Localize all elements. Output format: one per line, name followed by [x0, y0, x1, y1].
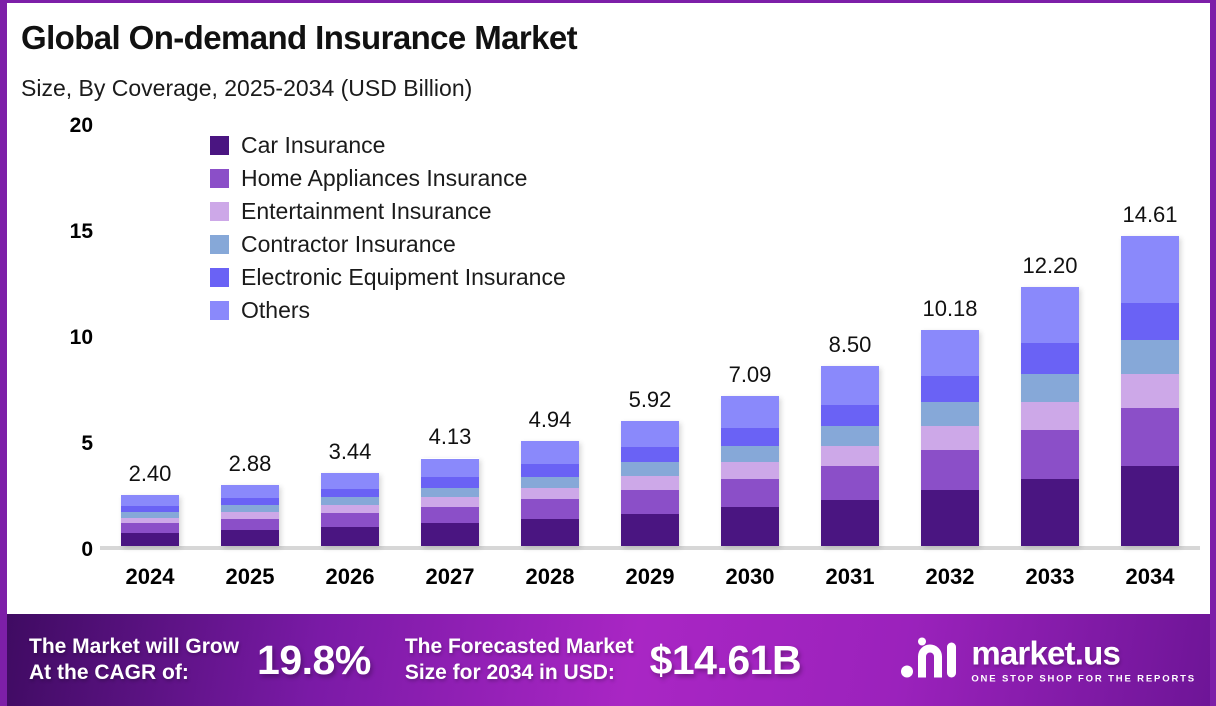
bar-value-label-2027: 4.13	[400, 424, 500, 450]
bar-segment-2031-s4[interactable]	[821, 405, 879, 426]
bar-slot-2024: 2.402024	[100, 122, 200, 546]
brand-logo[interactable]: market.us ONE STOP SHOP FOR THE REPORTS	[900, 635, 1196, 686]
stacked-bar-2030[interactable]	[721, 396, 779, 546]
legend-label-5: Others	[241, 297, 310, 324]
bar-segment-2030-s1[interactable]	[721, 479, 779, 507]
bar-segment-2028-s4[interactable]	[521, 464, 579, 477]
stacked-bar-2026[interactable]	[321, 473, 379, 546]
bar-segment-2027-s5[interactable]	[421, 459, 479, 478]
logo-name: market.us	[971, 634, 1120, 671]
bar-segment-2034-s2[interactable]	[1121, 374, 1179, 408]
bar-segment-2033-s4[interactable]	[1021, 343, 1079, 374]
cagr-label: The Market will Grow At the CAGR of:	[29, 634, 239, 685]
bar-segment-2029-s4[interactable]	[621, 447, 679, 462]
bar-segment-2032-s2[interactable]	[921, 426, 979, 450]
bar-segment-2025-s0[interactable]	[221, 530, 279, 546]
bar-segment-2034-s4[interactable]	[1121, 303, 1179, 340]
bar-segment-2025-s1[interactable]	[221, 519, 279, 530]
bar-segment-2030-s2[interactable]	[721, 462, 779, 479]
legend-swatch-icon-4	[210, 268, 229, 287]
bar-segment-2033-s0[interactable]	[1021, 479, 1079, 546]
bar-segment-2033-s3[interactable]	[1021, 374, 1079, 402]
legend-label-1: Home Appliances Insurance	[241, 165, 527, 192]
x-axis-label-2028: 2028	[500, 564, 600, 590]
chart-legend: Car InsuranceHome Appliances InsuranceEn…	[210, 129, 566, 327]
bar-segment-2025-s5[interactable]	[221, 485, 279, 498]
bar-segment-2032-s3[interactable]	[921, 402, 979, 426]
bar-segment-2026-s4[interactable]	[321, 489, 379, 498]
x-axis-label-2025: 2025	[200, 564, 300, 590]
stacked-bar-2024[interactable]	[121, 495, 179, 546]
bar-slot-2034: 14.612034	[1100, 122, 1200, 546]
bar-slot-2031: 8.502031	[800, 122, 900, 546]
bar-segment-2027-s3[interactable]	[421, 488, 479, 498]
x-axis-baseline	[100, 546, 1200, 550]
bar-segment-2026-s1[interactable]	[321, 513, 379, 527]
bar-segment-2029-s5[interactable]	[621, 421, 679, 448]
bar-segment-2031-s0[interactable]	[821, 500, 879, 546]
bar-segment-2029-s2[interactable]	[621, 476, 679, 490]
bar-segment-2030-s3[interactable]	[721, 446, 779, 463]
bar-value-label-2032: 10.18	[900, 296, 1000, 322]
bar-segment-2029-s3[interactable]	[621, 462, 679, 476]
cagr-label-line2: At the CAGR of:	[29, 660, 239, 686]
x-axis-label-2033: 2033	[1000, 564, 1100, 590]
bar-segment-2028-s1[interactable]	[521, 499, 579, 519]
stacked-bar-2032[interactable]	[921, 330, 979, 546]
legend-label-2: Entertainment Insurance	[241, 198, 492, 225]
legend-label-4: Electronic Equipment Insurance	[241, 264, 566, 291]
bar-segment-2025-s2[interactable]	[221, 512, 279, 519]
bar-segment-2030-s5[interactable]	[721, 396, 779, 428]
legend-item-0[interactable]: Car Insurance	[210, 129, 566, 162]
bar-segment-2032-s1[interactable]	[921, 450, 979, 491]
bar-segment-2026-s3[interactable]	[321, 497, 379, 505]
bar-segment-2034-s5[interactable]	[1121, 236, 1179, 303]
bar-value-label-2024: 2.40	[100, 461, 200, 487]
legend-item-4[interactable]: Electronic Equipment Insurance	[210, 261, 566, 294]
cagr-value: 19.8%	[257, 637, 371, 684]
bar-value-label-2026: 3.44	[300, 439, 400, 465]
bar-segment-2025-s3[interactable]	[221, 505, 279, 512]
bar-value-label-2025: 2.88	[200, 451, 300, 477]
bar-segment-2031-s5[interactable]	[821, 366, 879, 405]
logo-text-block: market.us ONE STOP SHOP FOR THE REPORTS	[971, 636, 1196, 684]
stacked-bar-2034[interactable]	[1121, 236, 1179, 546]
bar-segment-2034-s1[interactable]	[1121, 408, 1179, 466]
bar-segment-2027-s4[interactable]	[421, 477, 479, 487]
bar-segment-2025-s4[interactable]	[221, 498, 279, 505]
bar-segment-2033-s5[interactable]	[1021, 287, 1079, 343]
stacked-bar-2027[interactable]	[421, 458, 479, 546]
y-axis-tick-5: 5	[33, 432, 93, 456]
bar-segment-2033-s1[interactable]	[1021, 430, 1079, 479]
bar-value-label-2030: 7.09	[700, 362, 800, 388]
legend-swatch-icon-3	[210, 235, 229, 254]
bar-segment-2034-s3[interactable]	[1121, 340, 1179, 374]
forecast-label-line1: The Forecasted Market	[405, 634, 634, 660]
bar-segment-2028-s3[interactable]	[521, 477, 579, 488]
chart-infographic: Global On-demand Insurance Market Size, …	[0, 0, 1216, 706]
legend-item-5[interactable]: Others	[210, 294, 566, 327]
bar-segment-2026-s2[interactable]	[321, 505, 379, 513]
bar-segment-2030-s4[interactable]	[721, 428, 779, 446]
stacked-bar-2031[interactable]	[821, 366, 879, 546]
forecast-label-line2: Size for 2034 in USD:	[405, 660, 634, 686]
logo-tagline: ONE STOP SHOP FOR THE REPORTS	[971, 673, 1196, 684]
x-axis-label-2026: 2026	[300, 564, 400, 590]
bar-segment-2028-s0[interactable]	[521, 519, 579, 546]
bottom-banner: The Market will Grow At the CAGR of: 19.…	[7, 614, 1210, 706]
bar-value-label-2034: 14.61	[1100, 202, 1200, 228]
x-axis-label-2029: 2029	[600, 564, 700, 590]
y-axis-tick-15: 15	[33, 220, 93, 244]
bar-segment-2027-s2[interactable]	[421, 497, 479, 507]
stacked-bar-2028[interactable]	[521, 441, 579, 546]
legend-swatch-icon-2	[210, 202, 229, 221]
legend-label-0: Car Insurance	[241, 132, 385, 159]
page-title: Global On-demand Insurance Market	[21, 19, 577, 57]
x-axis-label-2024: 2024	[100, 564, 200, 590]
legend-item-2[interactable]: Entertainment Insurance	[210, 195, 566, 228]
bar-segment-2024-s0[interactable]	[121, 533, 179, 546]
bar-value-label-2033: 12.20	[1000, 253, 1100, 279]
bar-segment-2032-s0[interactable]	[921, 490, 979, 546]
bar-segment-2029-s1[interactable]	[621, 490, 679, 514]
x-axis-label-2032: 2032	[900, 564, 1000, 590]
bar-value-label-2029: 5.92	[600, 387, 700, 413]
bar-segment-2027-s1[interactable]	[421, 507, 479, 524]
bar-segment-2028-s5[interactable]	[521, 441, 579, 464]
forecast-block: The Forecasted Market Size for 2034 in U…	[405, 634, 801, 685]
stacked-bar-2029[interactable]	[621, 421, 679, 547]
page-subtitle: Size, By Coverage, 2025-2034 (USD Billio…	[21, 75, 472, 102]
bar-segment-2032-s5[interactable]	[921, 330, 979, 376]
y-axis-tick-0: 0	[33, 538, 93, 562]
bar-segment-2033-s2[interactable]	[1021, 402, 1079, 430]
stacked-bar-2033[interactable]	[1021, 287, 1079, 546]
bar-segment-2031-s3[interactable]	[821, 426, 879, 446]
bar-value-label-2028: 4.94	[500, 407, 600, 433]
bar-segment-2024-s5[interactable]	[121, 495, 179, 506]
bar-segment-2031-s2[interactable]	[821, 446, 879, 466]
bar-segment-2028-s2[interactable]	[521, 488, 579, 499]
bar-segment-2026-s0[interactable]	[321, 527, 379, 546]
x-axis-label-2031: 2031	[800, 564, 900, 590]
x-axis-label-2027: 2027	[400, 564, 500, 590]
forecast-label: The Forecasted Market Size for 2034 in U…	[405, 634, 634, 685]
bar-segment-2026-s5[interactable]	[321, 473, 379, 488]
market-us-mark-icon	[900, 635, 962, 686]
bar-slot-2029: 5.922029	[600, 122, 700, 546]
bar-segment-2034-s0[interactable]	[1121, 466, 1179, 546]
cagr-label-line1: The Market will Grow	[29, 634, 239, 660]
bar-segment-2031-s1[interactable]	[821, 466, 879, 500]
legend-swatch-icon-5	[210, 301, 229, 320]
y-axis-tick-20: 20	[33, 114, 93, 138]
legend-label-3: Contractor Insurance	[241, 231, 456, 258]
stacked-bar-2025[interactable]	[221, 485, 279, 546]
cagr-block: The Market will Grow At the CAGR of: 19.…	[29, 634, 371, 685]
forecast-value: $14.61B	[650, 637, 802, 684]
legend-item-3[interactable]: Contractor Insurance	[210, 228, 566, 261]
bar-segment-2024-s1[interactable]	[121, 523, 179, 533]
bar-slot-2033: 12.202033	[1000, 122, 1100, 546]
bar-slot-2030: 7.092030	[700, 122, 800, 546]
bar-segment-2027-s0[interactable]	[421, 523, 479, 546]
bar-segment-2030-s0[interactable]	[721, 507, 779, 546]
bar-segment-2029-s0[interactable]	[621, 514, 679, 546]
x-axis-label-2034: 2034	[1100, 564, 1200, 590]
y-axis-tick-10: 10	[33, 326, 93, 350]
x-axis-label-2030: 2030	[700, 564, 800, 590]
bar-segment-2032-s4[interactable]	[921, 376, 979, 402]
legend-swatch-icon-1	[210, 169, 229, 188]
legend-swatch-icon-0	[210, 136, 229, 155]
bar-slot-2032: 10.182032	[900, 122, 1000, 546]
legend-item-1[interactable]: Home Appliances Insurance	[210, 162, 566, 195]
bar-value-label-2031: 8.50	[800, 332, 900, 358]
